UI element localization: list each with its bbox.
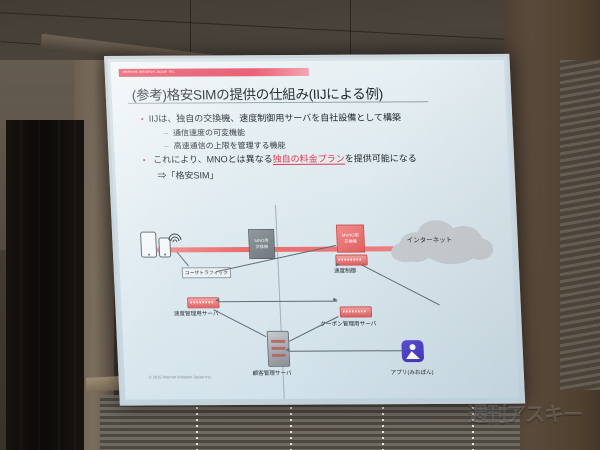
- projection-screen: Internet Initiative Japan Inc. (参考)格安SIM…: [104, 54, 525, 406]
- bullet-prefix: これにより、MNOとは異なる: [153, 154, 273, 165]
- arrow-head: [285, 348, 289, 352]
- bullet-list: IIJは、独自の交換機、速度制御用サーバを自社設備として構築 通信速度の可変機能…: [141, 110, 484, 182]
- app-label: アプリ(みおぽん): [390, 368, 433, 376]
- connector-app-to-customer: [290, 350, 402, 351]
- photo-scene: Internet Initiative Japan Inc. (参考)格安SIM…: [0, 0, 600, 450]
- tablet-icon: [140, 232, 157, 258]
- mvno-switch-node: MVNO用交換機: [336, 225, 365, 253]
- bullet-suffix: を提供可能になる: [344, 153, 417, 163]
- slide-copyright: © 2015 Internet Initiative Japan Inc.: [148, 374, 211, 379]
- bullet-highlight-text: 独自の料金プラン: [272, 154, 345, 165]
- title-underline: [128, 101, 428, 104]
- slide-title: (参考)格安SIMの提供の仕組み(IIJによる例): [131, 83, 383, 104]
- arrow-head: [333, 298, 337, 302]
- network-diagram: NTTドコモ← →IIJ ユーザトラフィック MNO用交換機 MVNO用交換機: [127, 200, 511, 384]
- internet-cloud-label: インターネット: [406, 234, 452, 244]
- app-icon: [401, 340, 424, 362]
- bullet-item: 高速通信の上限を管理する機能: [164, 138, 483, 151]
- connector-customer-to-coupon: [289, 316, 339, 342]
- brand-bar-text: Internet Initiative Japan Inc.: [123, 69, 176, 73]
- connector-speed-to-coupon: [362, 265, 440, 306]
- bullet-item: 通信速度の可変機能: [163, 126, 482, 139]
- connector-rate-to-coupon: [219, 301, 337, 302]
- brand-bar: Internet Initiative Japan Inc.: [119, 68, 310, 77]
- speed-control-label: 速度制御: [334, 267, 357, 275]
- coupon-server-icon: [340, 306, 373, 317]
- wifi-icon: [170, 229, 187, 245]
- rate-server-label: 速度管理用サーバ: [174, 309, 219, 317]
- arrow-head: [215, 298, 219, 302]
- bullet-item-highlight: これにより、MNOとは異なる独自の料金プランを提供可能になる: [142, 151, 483, 166]
- connector-rate-to-customer: [213, 309, 266, 337]
- speed-control-server-icon: [335, 254, 368, 265]
- arrow-head: [336, 263, 340, 267]
- mno-switch-node: MNO用交換機: [248, 229, 275, 259]
- slide-surface: Internet Initiative Japan Inc. (参考)格安SIM…: [110, 60, 519, 400]
- customer-server-label: 顧客管理サーバ: [252, 369, 292, 377]
- dark-curtain: [6, 120, 84, 450]
- watermark: 週刊アスキー: [468, 398, 582, 427]
- bullet-conclusion: ⇒「格安SIM」: [157, 167, 484, 182]
- leader-line: [177, 252, 189, 267]
- bullet-item: IIJは、独自の交換機、速度制御用サーバを自社設備として構築: [141, 110, 482, 125]
- window-blinds-right: [560, 60, 600, 390]
